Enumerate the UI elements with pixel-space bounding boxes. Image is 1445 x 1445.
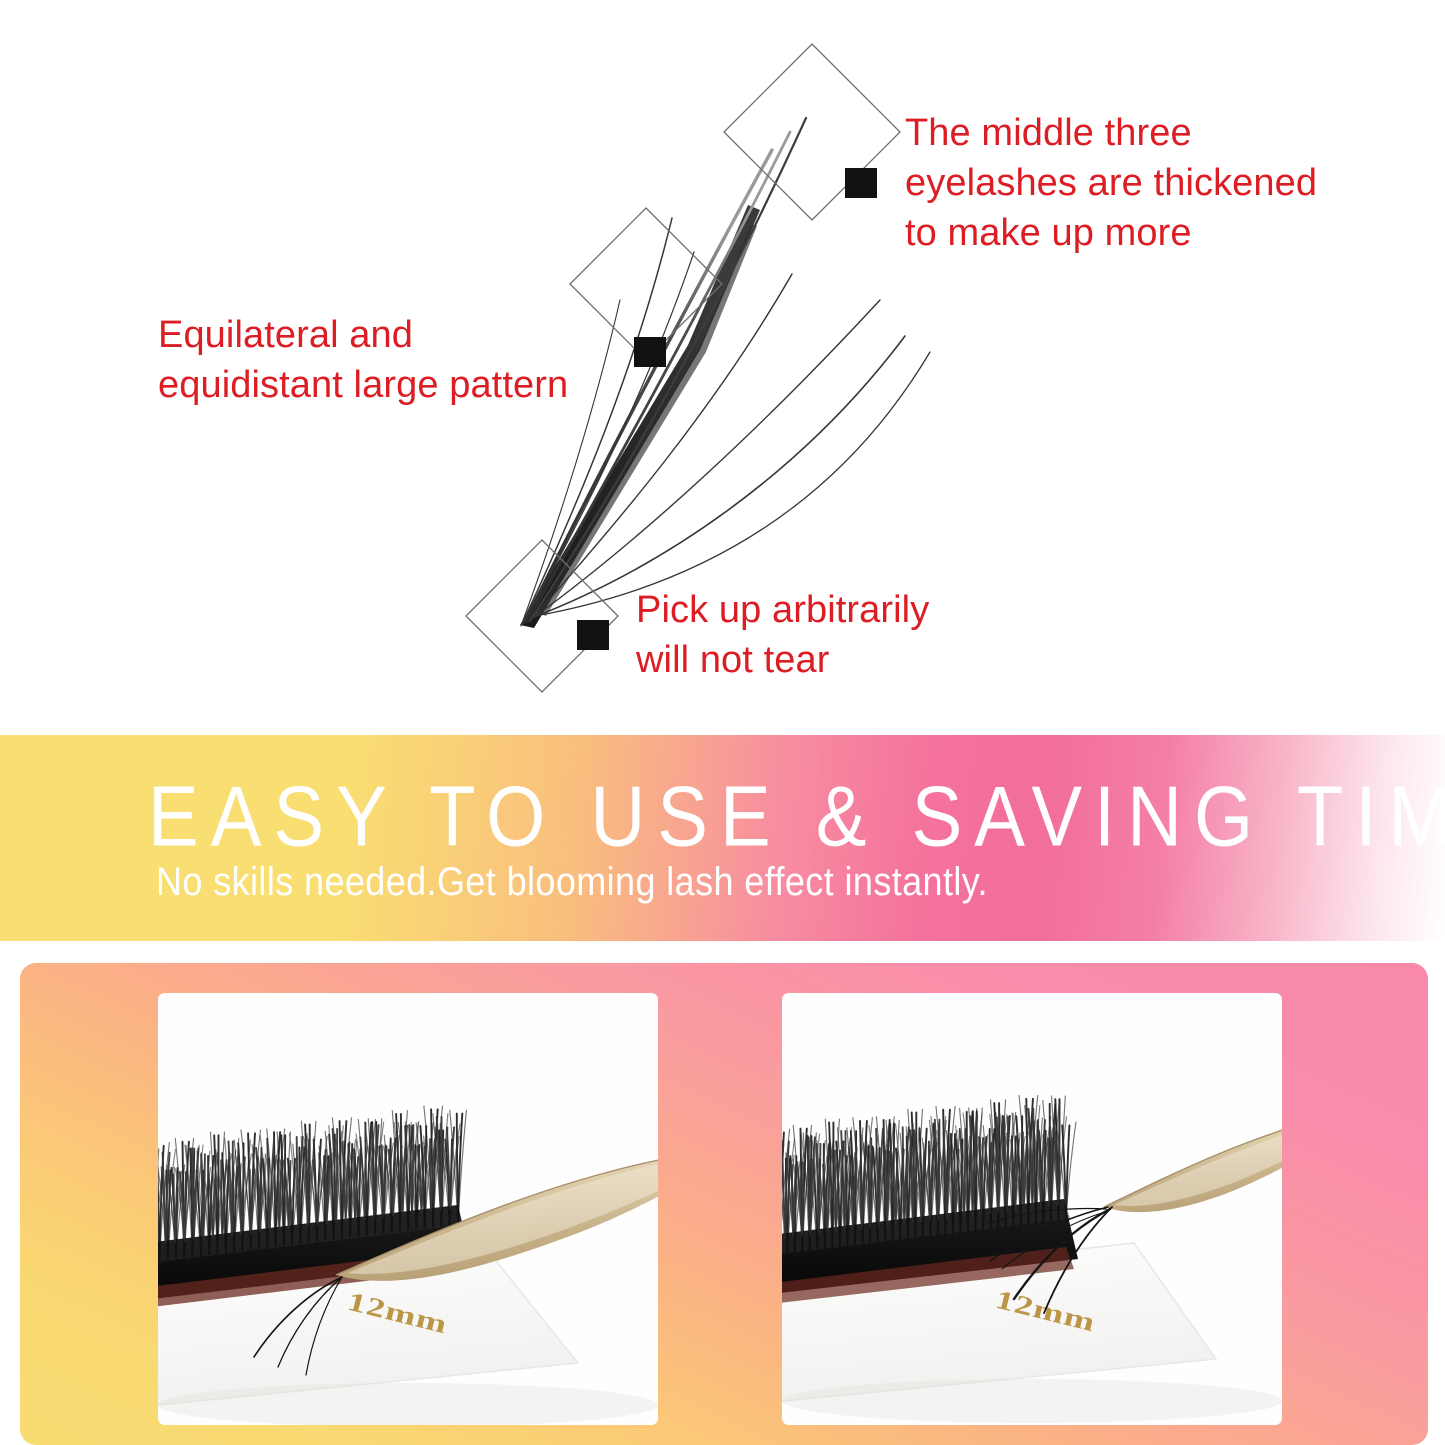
feature-diagram-section: The middle three eyelashes are thickened… <box>0 0 1445 735</box>
callout-thickened-text: The middle three eyelashes are thickened… <box>905 108 1317 258</box>
marker-square-top <box>845 168 877 198</box>
callout-equilateral-text: Equilateral and equidistant large patter… <box>158 310 568 410</box>
lash-tray-photo-right: 12mm <box>782 993 1282 1425</box>
banner-headline: EASY TO USE & SAVING TIME <box>148 775 1445 860</box>
promo-banner: EASY TO USE & SAVING TIME No skills need… <box>0 735 1445 941</box>
marker-square-bottom <box>577 620 609 650</box>
callout-no-tear-text: Pick up arbitrarily will not tear <box>636 585 929 685</box>
product-photo-panel: 12mm <box>20 963 1428 1445</box>
diamond-outline-bottom <box>466 540 618 692</box>
banner-subheadline: No skills needed.Get blooming lash effec… <box>156 862 988 902</box>
lash-tray-photo-left: 12mm <box>158 993 658 1425</box>
product-photo-card-left: 12mm <box>158 993 658 1425</box>
marker-square-middle <box>634 337 666 367</box>
product-photo-card-right: 12mm <box>782 993 1282 1425</box>
